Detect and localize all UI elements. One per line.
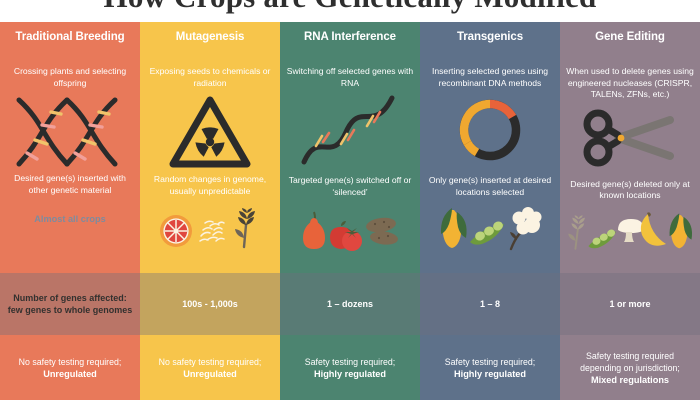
infographic-board: Traditional Breeding Crossing plants and… xyxy=(0,0,700,400)
gene-count-value: few genes to whole genomes xyxy=(8,304,133,316)
cotton-boll-icon xyxy=(503,206,543,250)
description-primary: Inserting selected genes using recombina… xyxy=(420,66,560,89)
description-secondary: Desired gene(s) inserted with other gene… xyxy=(0,173,140,196)
wheat-icon xyxy=(231,208,261,248)
description-primary: Crossing plants and selecting offspring xyxy=(0,66,140,89)
soybean-pod-icon xyxy=(586,225,620,251)
rna-strand-icon xyxy=(280,91,420,169)
column-header-gene-editing: Gene Editing xyxy=(560,22,700,52)
rice-grains-icon xyxy=(195,214,229,248)
top-gap xyxy=(280,0,420,22)
description-secondary: Targeted gene(s) switched off or ‘silenc… xyxy=(280,175,420,198)
regulation-status-text: Highly regulated xyxy=(314,368,386,380)
grapefruit-icon xyxy=(159,214,193,248)
gene-count-value: 1 – dozens xyxy=(327,298,373,310)
description-primary: Switching off selected genes with RNA xyxy=(280,66,420,89)
crop-icon-row xyxy=(560,206,700,252)
regulation-testing-text: No safety testing required; xyxy=(19,356,122,368)
tomato-icon xyxy=(340,226,364,252)
column-header-mutagenesis: Mutagenesis xyxy=(140,22,280,52)
regulation-cell-gene-editing: Safety testing required depending on jur… xyxy=(560,335,700,400)
regulation-testing-text: Safety testing required; xyxy=(445,356,535,368)
regulation-cell-mutagenesis: No safety testing required; Unregulated xyxy=(140,335,280,400)
regulation-cell-transgenics: Safety testing required; Highly regulate… xyxy=(420,335,560,400)
crop-icon-row xyxy=(280,206,420,250)
gene-count-cell-gene-editing: 1 or more xyxy=(560,273,700,335)
plasmid-ring-icon xyxy=(420,93,560,167)
regulation-cell-rna-interference: Safety testing required; Highly regulate… xyxy=(280,335,420,400)
regulation-status-text: Unregulated xyxy=(43,368,97,380)
regulation-testing-text: No safety testing required; xyxy=(159,356,262,368)
column-header-rna-interference: RNA Interference xyxy=(280,22,420,52)
crop-icon-row xyxy=(140,206,280,248)
top-gap xyxy=(420,0,560,22)
potato-icon xyxy=(362,212,400,250)
regulation-testing-text: Safety testing required; xyxy=(305,356,395,368)
gene-count-value: 1 or more xyxy=(609,298,650,310)
radiation-warning-icon xyxy=(140,93,280,171)
crops-note-label: Almost all crops xyxy=(34,214,105,224)
description-secondary: Desired gene(s) deleted only at known lo… xyxy=(560,179,700,202)
description-secondary: Random changes in genome, usually unpred… xyxy=(140,174,280,197)
gene-count-cell-transgenics: 1 – 8 xyxy=(420,273,560,335)
squash-icon xyxy=(300,206,328,250)
description-primary: When used to delete genes using engineer… xyxy=(560,66,700,101)
gene-count-value: 100s - 1,000s xyxy=(182,298,238,310)
gene-count-cell-rna-interference: 1 – dozens xyxy=(280,273,420,335)
column-header-traditional-breeding: Traditional Breeding xyxy=(0,22,140,52)
corn-icon xyxy=(438,204,470,250)
gene-count-label: Number of genes affected: xyxy=(13,292,127,304)
top-gap xyxy=(560,0,700,22)
scissors-icon xyxy=(560,105,700,171)
gene-count-cell-mutagenesis: 100s - 1,000s xyxy=(140,273,280,335)
crop-icon-row xyxy=(420,204,560,250)
regulation-status-text: Mixed regulations xyxy=(591,374,669,386)
regulation-status-text: Highly regulated xyxy=(454,368,526,380)
description-primary: Exposing seeds to chemicals or radiation xyxy=(140,66,280,89)
column-header-transgenics: Transgenics xyxy=(420,22,560,52)
description-secondary: Only gene(s) inserted at desired locatio… xyxy=(420,175,560,198)
regulation-row: No safety testing required; Unregulated … xyxy=(0,335,700,400)
regulation-status-text: Unregulated xyxy=(183,368,237,380)
top-gap xyxy=(0,0,140,22)
gene-count-row: Number of genes affected: few genes to w… xyxy=(0,273,700,335)
corn-icon xyxy=(667,208,695,252)
regulation-cell-traditional-breeding: No safety testing required; Unregulated xyxy=(0,335,140,400)
gene-count-value: 1 – 8 xyxy=(480,298,500,310)
gene-count-cell-traditional-breeding: Number of genes affected: few genes to w… xyxy=(0,273,140,335)
top-gap xyxy=(140,0,280,22)
regulation-testing-text: Safety testing required depending on jur… xyxy=(566,350,694,374)
dna-helix-icon xyxy=(0,91,140,169)
